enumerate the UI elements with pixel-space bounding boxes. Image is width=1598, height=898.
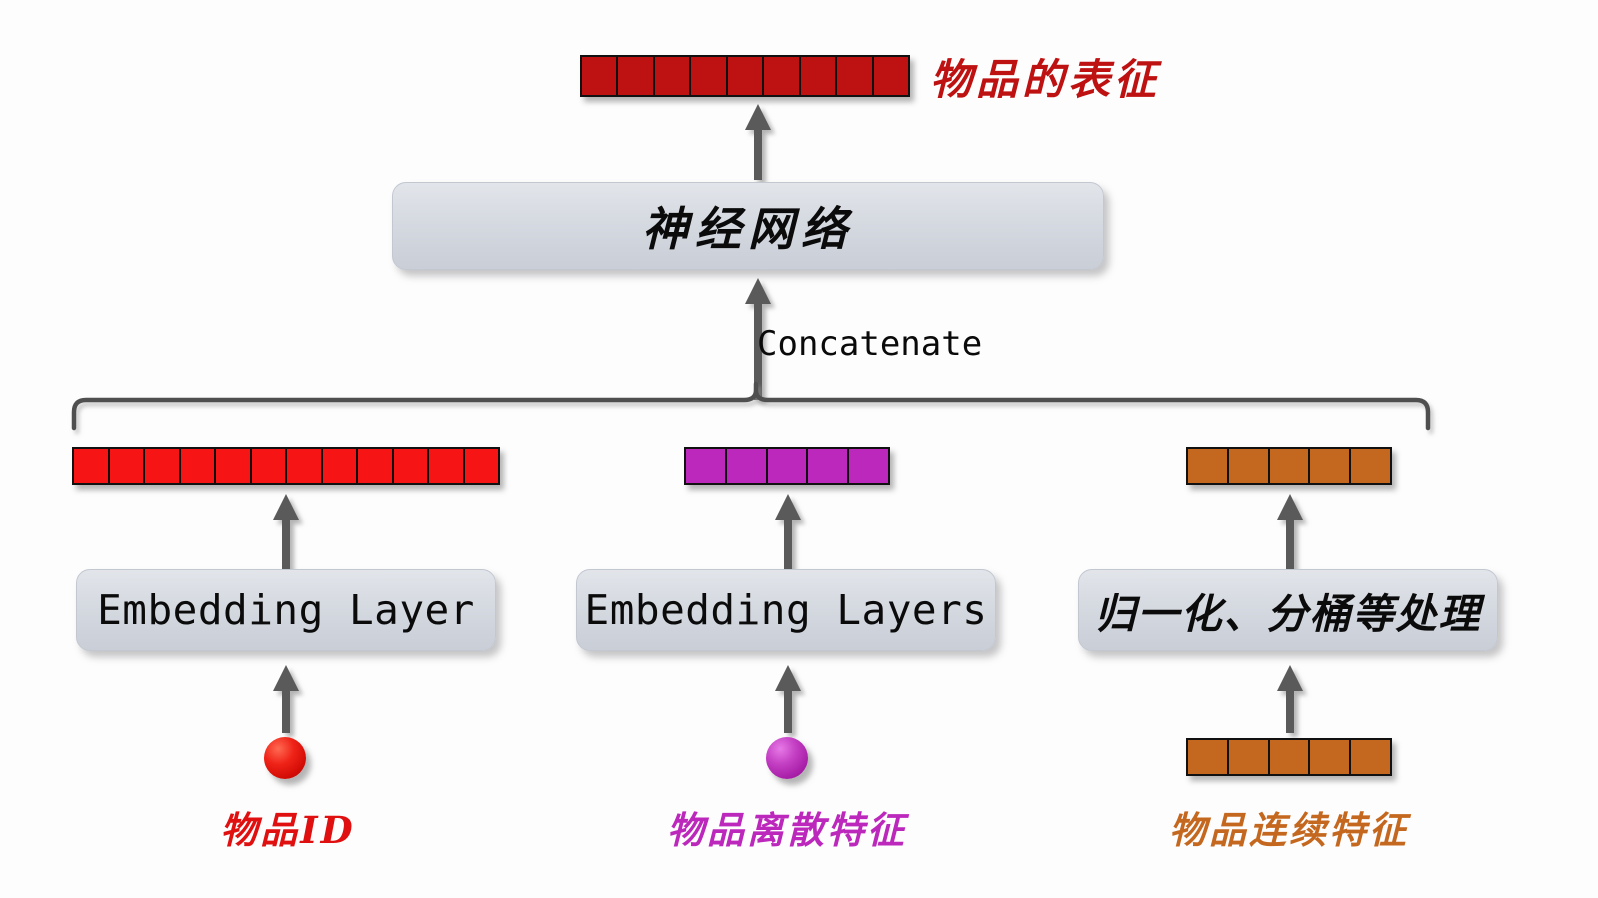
embedding-layers-label-1: Embedding Layers bbox=[585, 586, 988, 634]
embedding-cell bbox=[110, 449, 146, 483]
normalization-bucketing-box[interactable]: 归一化、分桶等处理 bbox=[1078, 569, 1498, 651]
arrow-embedding-layer-to-vector-0 bbox=[266, 494, 306, 570]
raw-feature-cell bbox=[1270, 740, 1311, 774]
embedding-layer-box-item-id[interactable]: Embedding Layer bbox=[76, 569, 496, 651]
embedding-cell bbox=[252, 449, 288, 483]
arrow-input-to-normalization-2 bbox=[1270, 665, 1310, 733]
representation-cell bbox=[582, 57, 618, 95]
representation-cell bbox=[801, 57, 837, 95]
continuous-feature-input-vector bbox=[1186, 738, 1392, 776]
continuous-feature-processed-vector bbox=[1186, 447, 1392, 485]
continuous-feature-caption: 物品连续特征 bbox=[1139, 800, 1439, 854]
concatenate-label: Concatenate bbox=[757, 324, 982, 364]
embedding-cell bbox=[358, 449, 394, 483]
embedding-cell bbox=[216, 449, 252, 483]
arrow-input-to-embedding-layers-1 bbox=[768, 665, 808, 733]
neural-network-label: 神经网络 bbox=[642, 193, 854, 259]
embedding-cell bbox=[808, 449, 849, 483]
normalization-bucketing-label: 归一化、分桶等处理 bbox=[1095, 580, 1482, 640]
arrow-network-to-output bbox=[738, 104, 778, 180]
representation-cell bbox=[655, 57, 691, 95]
neural-network-box[interactable]: 神经网络 bbox=[392, 182, 1104, 270]
representation-cell bbox=[874, 57, 908, 95]
arrow-input-to-embedding-layer-0 bbox=[266, 665, 306, 733]
processed-cell bbox=[1351, 449, 1390, 483]
raw-feature-cell bbox=[1310, 740, 1351, 774]
representation-cell bbox=[837, 57, 873, 95]
embedding-cell bbox=[768, 449, 809, 483]
embedding-cell bbox=[323, 449, 359, 483]
representation-cell bbox=[691, 57, 727, 95]
embedding-cell bbox=[727, 449, 768, 483]
item-representation-vector bbox=[580, 55, 910, 97]
embedding-cell bbox=[394, 449, 430, 483]
embedding-cell bbox=[429, 449, 465, 483]
raw-feature-cell bbox=[1188, 740, 1229, 774]
item-id-caption: 物品ID bbox=[138, 800, 438, 854]
embedding-layers-box-discrete[interactable]: Embedding Layers bbox=[576, 569, 996, 651]
arrow-normalization-to-vector-2 bbox=[1270, 494, 1310, 570]
discrete-feature-embedding-vector bbox=[684, 447, 890, 485]
embedding-cell bbox=[465, 449, 499, 483]
embedding-cell bbox=[287, 449, 323, 483]
representation-cell bbox=[618, 57, 654, 95]
processed-cell bbox=[1188, 449, 1229, 483]
representation-cell bbox=[728, 57, 764, 95]
item-id-input-node bbox=[264, 737, 306, 779]
discrete-feature-caption: 物品离散特征 bbox=[637, 800, 937, 854]
arrow-embedding-layers-to-vector-1 bbox=[768, 494, 808, 570]
diagram-canvas: 物品的表征 神经网络 Concatenate Embedding Layer 物… bbox=[0, 0, 1598, 898]
embedding-cell bbox=[849, 449, 888, 483]
embedding-cell bbox=[145, 449, 181, 483]
item-representation-label: 物品的表征 bbox=[930, 46, 1160, 107]
representation-cell bbox=[764, 57, 800, 95]
embedding-cell bbox=[686, 449, 727, 483]
embedding-cell bbox=[181, 449, 217, 483]
embedding-layer-label-0: Embedding Layer bbox=[97, 586, 475, 634]
processed-cell bbox=[1229, 449, 1270, 483]
raw-feature-cell bbox=[1351, 740, 1390, 774]
processed-cell bbox=[1310, 449, 1351, 483]
embedding-cell bbox=[74, 449, 110, 483]
discrete-feature-input-node bbox=[766, 737, 808, 779]
item-id-embedding-vector bbox=[72, 447, 500, 485]
processed-cell bbox=[1270, 449, 1311, 483]
raw-feature-cell bbox=[1229, 740, 1270, 774]
